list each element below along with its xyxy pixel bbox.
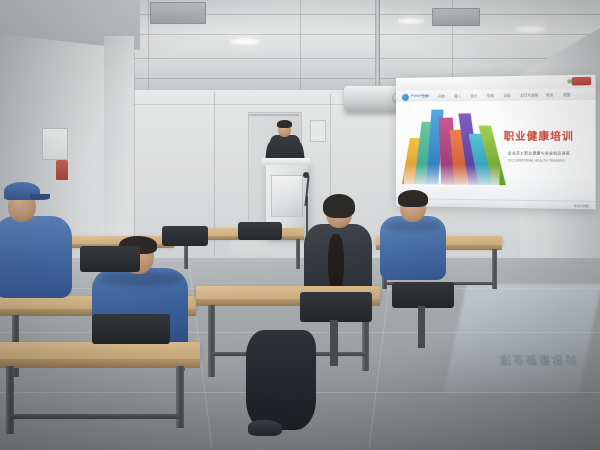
desk-leg [296, 239, 300, 269]
chair [300, 292, 372, 322]
ceiling-vent [432, 8, 480, 26]
desk [0, 342, 200, 360]
wall-sign [310, 120, 326, 142]
chair [162, 226, 208, 246]
attendee-center-legs [246, 330, 316, 430]
ribbon-tab-insert[interactable]: 插入 [454, 93, 461, 98]
ceiling-vent [150, 2, 206, 24]
slide-subtitle: 企业员工职业健康与安全知识讲座 [508, 151, 589, 156]
ribbon-tab-animations[interactable]: 动画 [504, 93, 511, 98]
ribbon-tab-transitions[interactable]: 切换 [487, 93, 494, 98]
microphone-icon [303, 172, 309, 178]
desk-edge [0, 359, 200, 368]
ribbon-tab-review[interactable]: 审阅 [546, 92, 553, 97]
ribbon-tab-slideshow[interactable]: 幻灯片放映 [520, 92, 538, 97]
photo-scene: 文件 开始 插入 设计 切换 动画 幻灯片放映 审阅 视图 PowerPoint [0, 0, 600, 450]
cap-brim [30, 194, 50, 200]
chair [92, 314, 170, 344]
chair-post [418, 306, 425, 348]
podium-front-panel [271, 175, 303, 217]
podium-top-surface [262, 158, 310, 165]
ceiling-panel-line [300, 0, 301, 92]
ceiling-light [516, 26, 546, 33]
fire-extinguisher [56, 160, 68, 180]
desk-leg [208, 305, 215, 377]
attendee-right-hair [398, 190, 428, 207]
door-frame-top [249, 114, 299, 116]
floor-screen-reflection [443, 284, 600, 394]
slide-title: 职业健康培训 [504, 127, 592, 143]
chair [392, 282, 454, 308]
ceiling-light [230, 38, 260, 45]
attendee-center-hair [323, 194, 355, 218]
desk-leg [6, 366, 14, 434]
powerpoint-logo-icon [402, 94, 409, 101]
ceiling-light [398, 18, 424, 24]
projector-mount-pole [375, 0, 380, 88]
projection-screen: 文件 开始 插入 设计 切换 动画 幻灯片放映 审阅 视图 PowerPoint [396, 75, 596, 210]
ceiling-panel-line [148, 0, 149, 92]
screen-red-accent-tab [572, 77, 592, 86]
presenter-hair [277, 120, 292, 128]
desk-rail [10, 414, 180, 419]
shadow [98, 272, 182, 286]
attendee-front-left-torso [0, 216, 72, 298]
chair [80, 246, 140, 272]
wall-mounted-box [42, 128, 68, 160]
ribbon-tab-home[interactable]: 开始 [438, 93, 445, 98]
floor-reflection-text: 职业健康培训 [499, 352, 580, 368]
attendee-center-shoe [248, 420, 282, 436]
ribbon-tab-view[interactable]: 视图 [563, 92, 570, 97]
slide-subtitle-secondary: OCCUPATIONAL HEALTH TRAINING [508, 158, 589, 163]
chair [238, 222, 282, 240]
slide-canvas: 职业健康培训 企业员工职业健康与安全知识讲座 OCCUPATIONAL HEAL… [396, 100, 596, 209]
slide-decorative-artwork [402, 107, 502, 187]
ribbon-tab-design[interactable]: 设计 [471, 93, 478, 98]
chair-post [330, 320, 338, 366]
app-name-label: PowerPoint [411, 94, 429, 98]
language-indicator: 中文(中国) [574, 204, 589, 208]
